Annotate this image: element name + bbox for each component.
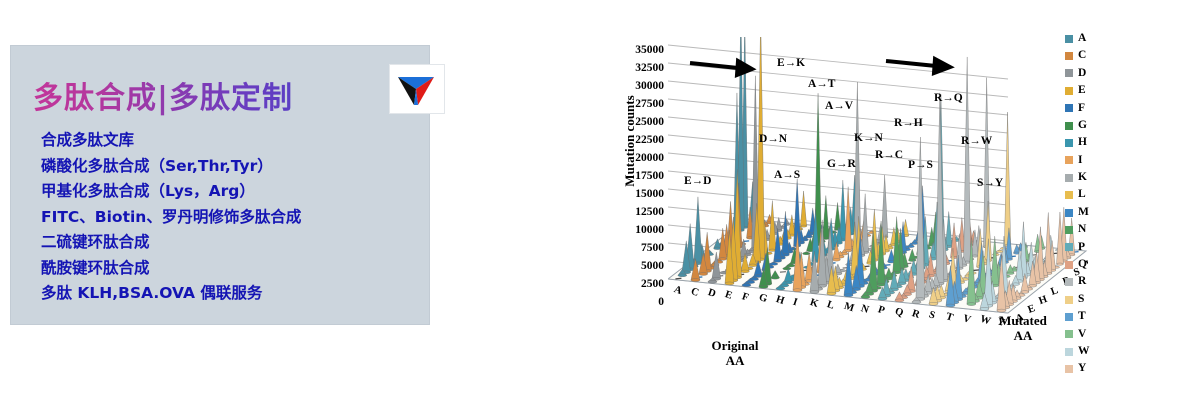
cone-bar [822, 196, 829, 239]
list-item: 磷酸化多肽合成（Ser,Thr,Tyr） [41, 154, 411, 180]
legend-item-K[interactable]: K [1065, 169, 1125, 186]
y-tick-30000: 30000 [635, 81, 664, 93]
legend-swatch-H [1065, 139, 1073, 147]
list-item: 多肽 KLH,BSA.OVA 偶联服务 [41, 281, 411, 307]
legend-swatch-F [1065, 104, 1073, 112]
legend-swatch-M [1065, 209, 1073, 217]
legend-swatch-Y [1065, 365, 1073, 373]
legend-item-Q[interactable]: Q [1065, 256, 1125, 273]
legend-label-L: L [1078, 189, 1086, 201]
cone-bar-base [909, 259, 916, 261]
y-tick-7500: 7500 [641, 243, 664, 255]
company-logo [389, 64, 445, 114]
cone-bar-base [776, 287, 785, 290]
y-tick-15000: 15000 [635, 189, 664, 201]
annotation-K-to-N: K→N [854, 132, 883, 144]
cone-bar-base [861, 296, 870, 299]
y-tick-20000: 20000 [635, 153, 664, 165]
legend-swatch-R [1065, 278, 1073, 286]
legend-label-Y: Y [1078, 363, 1086, 375]
legend-label-S: S [1078, 294, 1084, 306]
cone-bar-base [810, 290, 819, 293]
legend-label-K: K [1078, 172, 1087, 184]
legend-label-F: F [1078, 103, 1085, 115]
cone-bar-base [1057, 263, 1064, 265]
cone-bar-base [793, 289, 802, 292]
cone-bar-base [749, 264, 757, 267]
y-tick-0: 0 [658, 297, 664, 309]
legend-item-H[interactable]: H [1065, 134, 1125, 151]
cone-bar-base [912, 301, 921, 304]
legend-label-T: T [1078, 311, 1086, 323]
legend-item-E[interactable]: E [1065, 82, 1125, 99]
cone-bar-base [699, 273, 708, 276]
list-item: FITC、Biotin、罗丹明修饰多肽合成 [41, 205, 411, 231]
legend-swatch-I [1065, 156, 1073, 164]
cone-bar [694, 197, 702, 263]
cone-bar-base [1007, 272, 1014, 274]
legend-label-V: V [1078, 329, 1086, 341]
y-tick-22500: 22500 [635, 135, 664, 147]
arrow-right-icon-right [886, 59, 950, 73]
legend-label-A: A [1078, 33, 1086, 45]
annotation-P-to-S: P→S [908, 159, 933, 171]
legend-item-P[interactable]: P [1065, 239, 1125, 256]
chart-legend: ACDEFGHIKLMNPQRSTVWY [1065, 30, 1125, 378]
legend-swatch-V [1065, 330, 1073, 338]
cone-bar-base [878, 297, 887, 300]
cone-bar [1004, 112, 1010, 245]
logo-triangle-icon [390, 65, 442, 111]
x-axis-title: OriginalAA [680, 338, 790, 368]
y-tick-5000: 5000 [641, 261, 664, 273]
annotation-A-to-V: A→V [825, 100, 853, 112]
cone-bar-base [997, 309, 1006, 312]
annotation-S-to-Y: S→Y [977, 177, 1003, 189]
legend-swatch-W [1065, 348, 1073, 356]
y-tick-17500: 17500 [635, 171, 664, 183]
cone-bar-base [946, 304, 955, 307]
y-tick-27500: 27500 [635, 99, 664, 111]
legend-item-R[interactable]: R [1065, 273, 1125, 290]
annotation-A-to-S: A→S [774, 169, 800, 181]
legend-label-C: C [1078, 50, 1086, 62]
cone-bar-base [708, 280, 717, 283]
cone-bar-base [911, 242, 918, 244]
legend-label-N: N [1078, 224, 1086, 236]
legend-swatch-P [1065, 243, 1073, 251]
legend-item-I[interactable]: I [1065, 152, 1125, 169]
legend-swatch-A [1065, 35, 1073, 43]
legend-swatch-S [1065, 296, 1073, 304]
legend-label-M: M [1078, 207, 1089, 219]
y-tick-10000: 10000 [635, 225, 664, 237]
cone-bar-base [759, 285, 768, 288]
plot-walls-and-grid [668, 37, 1088, 327]
annotation-A-to-T: A→T [808, 78, 835, 90]
legend-swatch-K [1065, 174, 1073, 182]
y-tick-35000: 35000 [635, 45, 664, 57]
cone-bar-base [771, 276, 780, 279]
cone-bar-base [996, 250, 1003, 252]
list-item: 甲基化多肽合成（Lys，Arg） [41, 179, 411, 205]
legend-label-Q: Q [1078, 259, 1087, 271]
annotation-E-to-K: E→K [777, 57, 805, 69]
cone-bar-base [844, 294, 853, 297]
legend-item-F[interactable]: F [1065, 100, 1125, 117]
legend-swatch-L [1065, 191, 1073, 199]
legend-item-T[interactable]: T [1065, 308, 1125, 325]
legend-item-V[interactable]: V [1065, 326, 1125, 343]
cone-bar-base [800, 225, 806, 227]
legend-swatch-N [1065, 226, 1073, 234]
y-axis-tick-labels: 3500032500300002750025000225002000017500… [602, 45, 664, 297]
cone-bar-base [783, 267, 791, 270]
legend-item-L[interactable]: L [1065, 187, 1125, 204]
legend-label-D: D [1078, 68, 1086, 80]
legend-item-Y[interactable]: Y [1065, 360, 1125, 377]
cone-bar-base [725, 282, 734, 285]
promo-title: 多肽合成|多肽定制 [33, 73, 293, 117]
annotation-D-to-N: D→N [759, 133, 787, 145]
legend-label-G: G [1078, 120, 1087, 132]
y-tick-12500: 12500 [635, 207, 664, 219]
legend-label-W: W [1078, 346, 1090, 358]
legend-item-N[interactable]: N [1065, 221, 1125, 238]
promo-panel: 多肽合成|多肽定制 合成多肽文库 磷酸化多肽合成（Ser,Thr,Tyr） 甲基… [10, 45, 430, 325]
list-item: 合成多肽文库 [41, 128, 411, 154]
cone-bar-base [742, 284, 751, 287]
legend-swatch-G [1065, 122, 1073, 130]
cone-bar-base [877, 283, 885, 286]
legend-label-R: R [1078, 276, 1086, 288]
legend-item-M[interactable]: M [1065, 204, 1125, 221]
cone-bar [964, 57, 971, 262]
legend-item-S[interactable]: S [1065, 291, 1125, 308]
list-item: 酰胺键环肽合成 [41, 256, 411, 282]
list-item: 二硫键环肽合成 [41, 230, 411, 256]
cone-bar [800, 191, 806, 226]
cone-bar-base [827, 292, 836, 295]
cone-bar [862, 194, 869, 253]
legend-swatch-C [1065, 52, 1073, 60]
legend-swatch-E [1065, 87, 1073, 95]
arrow-right-icon-left [690, 61, 752, 75]
legend-label-E: E [1078, 85, 1086, 97]
legend-item-W[interactable]: W [1065, 343, 1125, 360]
cone-bar-base [929, 302, 938, 305]
cone-bar-base [895, 299, 904, 302]
y-tick-25000: 25000 [635, 117, 664, 129]
legend-item-C[interactable]: C [1065, 47, 1125, 64]
cone-bar-base [678, 274, 687, 277]
plot-area: E→D E→K A→T A→V D→N A→S G→R K→N R→C R→H … [668, 37, 1088, 327]
cone-bar-base [980, 307, 989, 310]
cone-bar-base [691, 279, 700, 282]
cone-bar-base [967, 303, 976, 306]
legend-label-P: P [1078, 242, 1085, 254]
annotation-R-to-C: R→C [875, 149, 903, 161]
cone-bar-base [741, 270, 749, 273]
legend-label-H: H [1078, 137, 1087, 149]
y-tick-32500: 32500 [635, 63, 664, 75]
promo-service-list: 合成多肽文库 磷酸化多肽合成（Ser,Thr,Tyr） 甲基化多肽合成（Lys，… [41, 128, 411, 307]
annotation-R-to-H: R→H [894, 117, 923, 129]
cone-bar-base [774, 260, 782, 263]
annotation-R-to-Q: R→Q [934, 92, 963, 104]
legend-swatch-Q [1065, 261, 1073, 269]
annotation-E-to-D: E→D [684, 175, 711, 187]
legend-label-I: I [1078, 155, 1082, 167]
z-axis-title: MutatedAA [978, 313, 1068, 343]
legend-swatch-D [1065, 69, 1073, 77]
annotation-R-to-W: R→W [961, 135, 992, 147]
y-tick-2500: 2500 [641, 279, 664, 291]
legend-swatch-T [1065, 313, 1073, 321]
legend-item-D[interactable]: D [1065, 65, 1125, 82]
legend-item-A[interactable]: A [1065, 30, 1125, 47]
annotation-G-to-R: G→R [827, 158, 856, 170]
cone-bar-base [833, 259, 841, 262]
legend-item-G[interactable]: G [1065, 117, 1125, 134]
